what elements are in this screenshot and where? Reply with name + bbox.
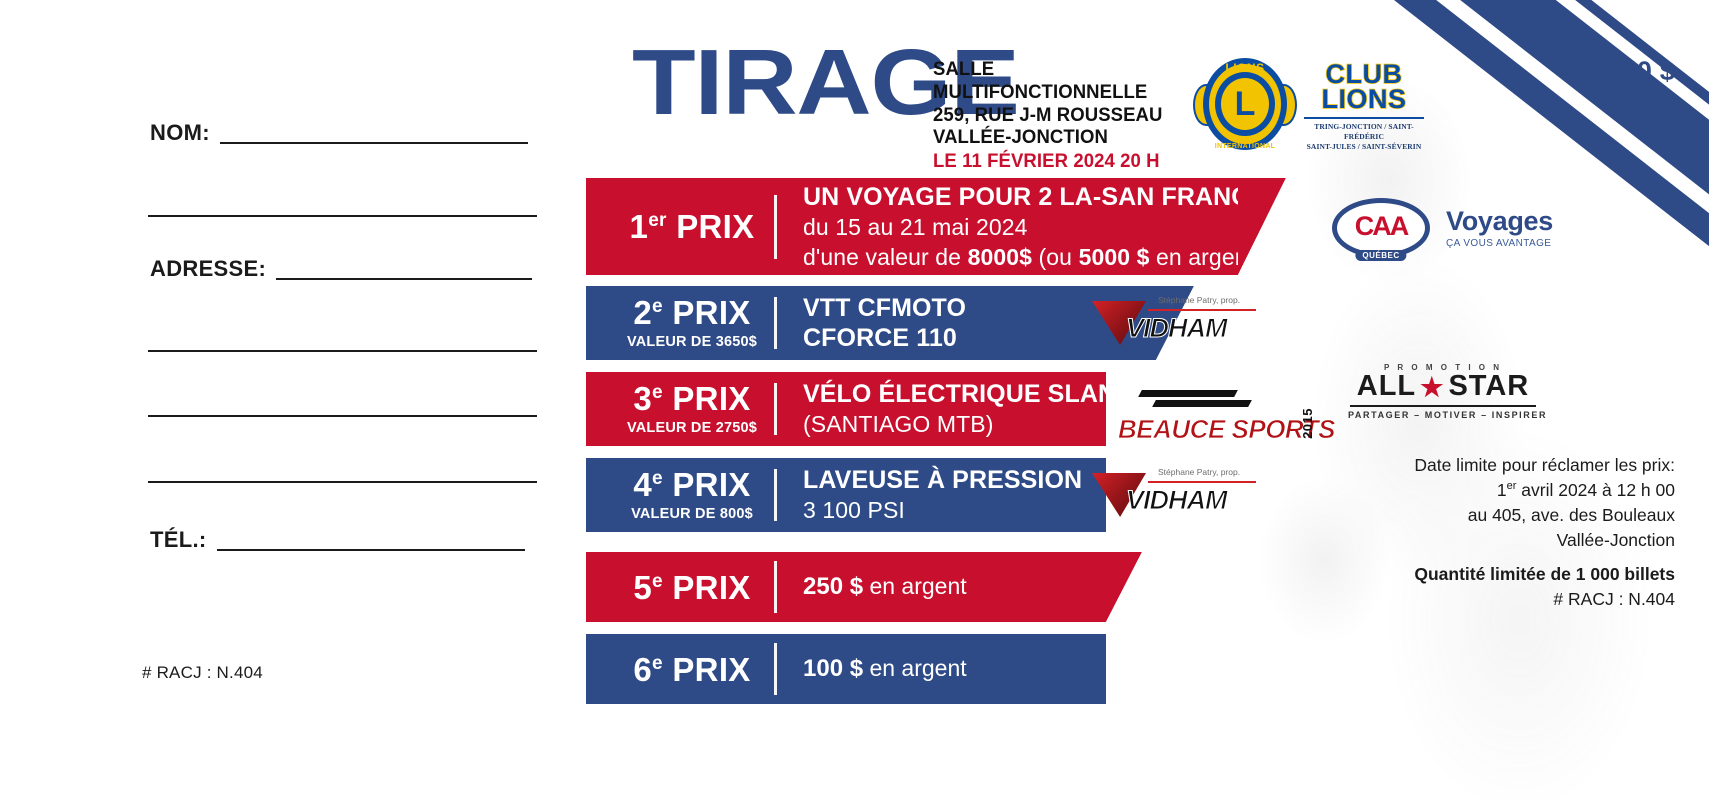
vidham-logo-prize2: Stéphane Patry, prop. VIDHAM (1092, 293, 1262, 353)
prize-4-rank-label: 4e PRIX (633, 468, 750, 501)
quantity-limit: Quantité limitée de 1 000 billets (1355, 562, 1675, 587)
venue-line-1: SALLE MULTIFONCTIONNELLE (933, 58, 1147, 103)
prize-3-value: VALEUR DE 2750$ (627, 420, 757, 436)
prize-3-word: PRIX (672, 380, 750, 417)
beauce-flag-1 (1138, 390, 1238, 397)
prize-5-divider (774, 561, 777, 613)
prize-3-divider (774, 383, 777, 435)
vidham-logo-prize4: Stéphane Patry, prop. VIDHAM (1092, 465, 1262, 525)
deadline-line-1: Date limite pour réclamer les prix: (1375, 453, 1675, 478)
prize-2-subtitle: CFORCE 110 (803, 323, 966, 353)
prize-1-value-prefix: d'une valeur de (803, 244, 968, 270)
prize-3-title: VÉLO ÉLECTRIQUE SLANE (803, 379, 1133, 409)
prize-1-number: 1 (630, 208, 649, 245)
beauce-year: 2015 (1300, 408, 1315, 439)
prize-2-rank: 2e PRIX VALEUR DE 3650$ (586, 296, 774, 350)
prize-row-6: 6e PRIX 100 $ en argent (586, 634, 1106, 704)
club-lions-line-2: LIONS (1300, 87, 1428, 112)
prize-5-amount: 250 $ (803, 573, 863, 600)
prize-1-value-mid: (ou (1032, 244, 1079, 270)
beauce-flag-2 (1152, 400, 1252, 407)
prize-5-word: PRIX (672, 569, 750, 606)
lions-bottom-text: INTERNATIONAL (1203, 143, 1287, 150)
prize-1-value-amount: 8000$ (968, 244, 1032, 270)
prize-3-number: 3 (633, 380, 652, 417)
prize-row-4: 4e PRIX VALEUR DE 800$ LAVEUSE À PRESSIO… (586, 458, 1106, 532)
deadline-line-4: Vallée-Jonction (1375, 528, 1675, 553)
deadline-line-2: 1er avril 2024 à 12 h 00 (1375, 478, 1675, 503)
prize-6-amount: 100 $ (803, 655, 863, 682)
caa-wordmark: Voyages ÇA VOUS AVANTAGE (1446, 208, 1553, 249)
lions-letter: L (1221, 78, 1269, 130)
vidham-wordmark-2: VIDHAM (1126, 485, 1227, 516)
allstar-promotion-logo: P R O M O T I O N ALL ★ STAR PARTAGER – … (1348, 363, 1538, 441)
prize-5-title: 250 $ en argent (803, 573, 967, 602)
prize-2-ordinal: e (652, 296, 663, 317)
caa-region-badge: QUÉBEC (1355, 250, 1406, 261)
prize-5-number: 5 (633, 569, 652, 606)
prize-4-word: PRIX (672, 466, 750, 503)
caa-letters: CAA (1355, 213, 1408, 240)
stub-rule-adresse-4[interactable] (148, 481, 537, 483)
prize-3-description: VÉLO ÉLECTRIQUE SLANE (SANTIAGO MTB) (777, 379, 1133, 439)
stub-field-adresse[interactable]: ADRESSE: (150, 258, 532, 280)
stub-field-tel[interactable]: TÉL.: (150, 529, 525, 551)
stub-rule-adresse-3[interactable] (148, 415, 537, 417)
caa-brand-name: Voyages (1446, 208, 1553, 235)
prize-2-rank-label: 2e PRIX (633, 296, 750, 329)
vidham-accent-line-1 (1148, 309, 1256, 311)
club-lions-divider (1304, 117, 1424, 119)
racj-number: # RACJ : N.404 (1355, 587, 1675, 612)
prize-4-subtitle: 3 100 PSI (803, 497, 1082, 525)
prize-6-word: PRIX (672, 651, 750, 688)
prize-4-title: LAVEUSE À PRESSION (803, 465, 1082, 495)
prize-5-amount-suffix: en argent (863, 573, 967, 599)
prize-1-chevron (1238, 178, 1286, 275)
stub-rule-adresse-2[interactable] (148, 350, 537, 352)
deadline-info: Date limite pour réclamer les prix: 1er … (1375, 453, 1675, 552)
prize-5-description: 250 $ en argent (777, 573, 967, 602)
vidham-wordmark-1: VIDHAM (1126, 313, 1227, 344)
prize-6-rank-label: 6e PRIX (633, 653, 750, 686)
prize-4-rank: 4e PRIX VALEUR DE 800$ (586, 468, 774, 522)
beauce-sports-logo: BEAUCE SPORTS 2015 (1118, 388, 1298, 448)
prize-1-dates: du 15 au 21 mai 2024 (803, 214, 1311, 242)
prize-6-rank: 6e PRIX (586, 653, 774, 686)
prize-4-divider (774, 469, 777, 521)
prize-5-ordinal: e (652, 571, 663, 592)
caa-oval-badge: CAA QUÉBEC (1332, 198, 1430, 258)
stub-label-adresse: ADRESSE: (150, 258, 276, 280)
allstar-word-star: STAR (1448, 373, 1529, 401)
stub-label-nom: NOM: (150, 122, 220, 144)
caa-voyages-logo: CAA QUÉBEC Voyages ÇA VOUS AVANTAGE (1332, 196, 1572, 260)
prize-1-ordinal: er (648, 210, 667, 231)
prize-row-2: 2e PRIX VALEUR DE 3650$ VTT CFMOTO CFORC… (586, 286, 1156, 360)
venue-line-2: 259, RUE J-M ROUSSEAU (933, 104, 1162, 126)
prize-4-ordinal: e (652, 468, 663, 489)
prize-4-number: 4 (633, 466, 652, 503)
prize-6-divider (774, 643, 777, 695)
draw-date: LE 11 FÉVRIER 2024 20 H (933, 150, 1190, 173)
prize-5-rank-label: 5e PRIX (633, 571, 750, 604)
prize-1-value: d'une valeur de 8000$ (ou 5000 $ en arge… (803, 244, 1311, 272)
star-icon: ★ (1420, 374, 1444, 400)
prize-1-word: PRIX (676, 208, 754, 245)
prize-row-1: 1er PRIX UN VOYAGE POUR 2 LA-SAN FRANCIS… (586, 178, 1238, 275)
vidham-proprietor-1: Stéphane Patry, prop. (1158, 295, 1240, 305)
prize-6-amount-suffix: en argent (863, 655, 967, 681)
prize-5-chevron (1106, 552, 1142, 622)
venue-line-3: VALLÉE-JONCTION (933, 126, 1108, 148)
allstar-word-all: ALL (1357, 373, 1416, 401)
venue-address: SALLE MULTIFONCTIONNELLE 259, RUE J-M RO… (933, 58, 1190, 173)
stub-label-tel: TÉL.: (150, 529, 217, 551)
prize-1-title: UN VOYAGE POUR 2 LA-SAN FRANCISCO (803, 182, 1311, 212)
prize-3-ordinal: e (652, 382, 663, 403)
stub-rule-nom[interactable] (220, 142, 528, 144)
stub-rule-nom-2[interactable] (148, 215, 537, 217)
prize-1-description: UN VOYAGE POUR 2 LA-SAN FRANCISCO du 15 … (777, 182, 1311, 271)
allstar-main-wordmark: ALL ★ STAR (1348, 373, 1538, 401)
prize-1-value-alt: 5000 $ (1079, 244, 1150, 270)
deadline-day: 1 (1497, 480, 1507, 500)
prize-2-divider (774, 297, 777, 349)
prize-3-rank-label: 3e PRIX (633, 382, 750, 415)
prize-4-value: VALEUR DE 800$ (631, 506, 753, 522)
lions-top-text: LIONS (1203, 61, 1287, 75)
prize-1-rank-label: 1er PRIX (630, 210, 755, 243)
prize-2-value: VALEUR DE 3650$ (627, 334, 757, 350)
stub-rule-tel[interactable] (217, 549, 525, 551)
prize-1-rank: 1er PRIX (586, 210, 774, 243)
stub-rule-adresse[interactable] (276, 278, 532, 280)
stub-field-nom[interactable]: NOM: (150, 122, 528, 144)
prize-1-divider (774, 195, 777, 259)
prize-2-word: PRIX (672, 294, 750, 331)
prize-4-description: LAVEUSE À PRESSION 3 100 PSI (777, 465, 1082, 525)
prize-row-5: 5e PRIX 250 $ en argent (586, 552, 1106, 622)
ticket-stub: NOM: ADRESSE: TÉL.: # RACJ : N.404 (0, 0, 586, 800)
prize-6-ordinal: e (652, 653, 663, 674)
prize-5-rank: 5e PRIX (586, 571, 774, 604)
prize-row-3: 3e PRIX VALEUR DE 2750$ VÉLO ÉLECTRIQUE … (586, 372, 1106, 446)
club-lions-wordmark: CLUB LIONS TRING-JONCTION / SAINT-FRÉDÉR… (1300, 62, 1428, 152)
club-lions-sub-1: TRING-JONCTION / SAINT-FRÉDÉRIC (1300, 122, 1428, 142)
lions-international-logo: L LIONS INTERNATIONAL (1195, 54, 1295, 154)
deadline-ordinal: er (1507, 480, 1517, 492)
prize-2-description: VTT CFMOTO CFORCE 110 (777, 293, 966, 353)
ticket-price: 50 $ (1622, 56, 1675, 87)
stub-racj-number: # RACJ : N.404 (142, 663, 263, 683)
deadline-line-3: au 405, ave. des Bouleaux (1375, 503, 1675, 528)
allstar-tagline: PARTAGER – MOTIVER – INSPIRER (1348, 410, 1538, 420)
caa-tagline: ÇA VOUS AVANTAGE (1446, 238, 1553, 249)
allstar-divider (1350, 405, 1536, 407)
prize-2-number: 2 (633, 294, 652, 331)
deadline-date-rest: avril 2024 à 12 h 00 (1516, 480, 1675, 500)
prize-6-description: 100 $ en argent (777, 655, 967, 684)
ticket-canvas: NOM: ADRESSE: TÉL.: # RACJ : N.404 TIRAG… (0, 0, 1709, 800)
club-lions-sub-2: SAINT-JULES / SAINT-SÉVERIN (1300, 142, 1428, 152)
prize-6-number: 6 (633, 651, 652, 688)
prize-3-rank: 3e PRIX VALEUR DE 2750$ (586, 382, 774, 436)
prize-6-title: 100 $ en argent (803, 655, 967, 684)
vidham-accent-line-2 (1148, 481, 1256, 483)
prize-3-subtitle: (SANTIAGO MTB) (803, 411, 1133, 439)
vidham-proprietor-2: Stéphane Patry, prop. (1158, 467, 1240, 477)
quantity-info: Quantité limitée de 1 000 billets # RACJ… (1355, 562, 1675, 613)
prize-2-title: VTT CFMOTO (803, 293, 966, 323)
